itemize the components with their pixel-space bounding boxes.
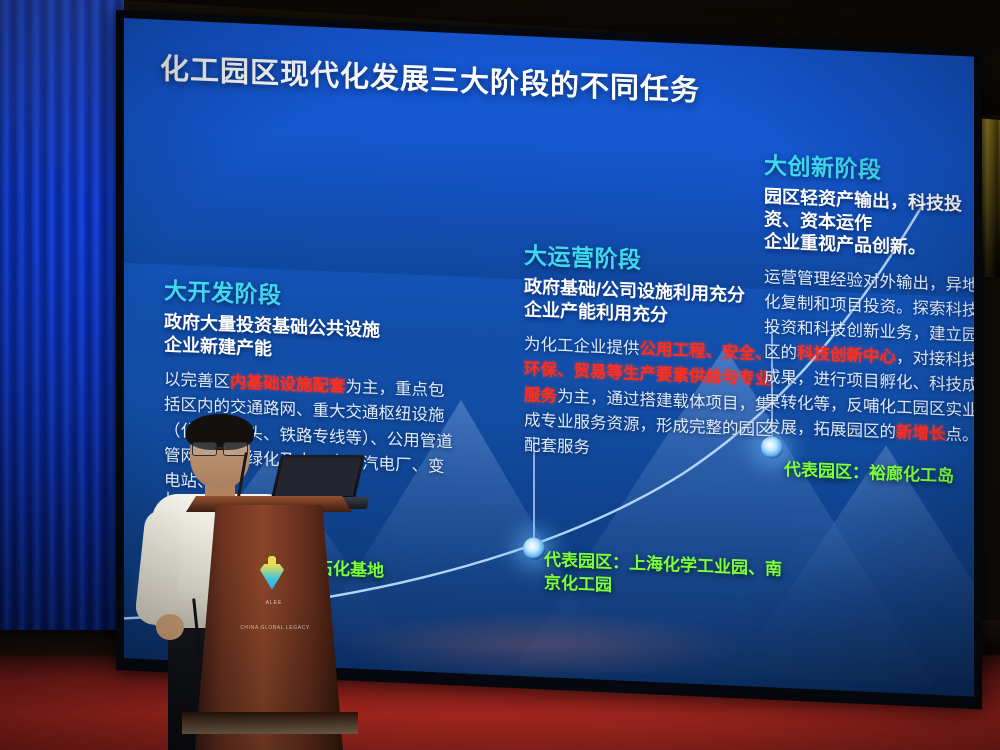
phase-subtitle: 园区轻资产输出，科技投资、资本运作 企业重视产品创新。 (764, 185, 974, 262)
phase-heading: 大运营阶段 (524, 236, 774, 280)
speaker-hand (156, 614, 184, 640)
glasses-icon (192, 442, 248, 454)
podium-logo-line1: ALEE (252, 600, 296, 606)
body-text: 点。 (946, 426, 975, 445)
body-text: 为主，通过搭建载体项目，集成专业服务资源，形成完整的园区配套服务 (524, 387, 772, 457)
phase-heading: 大创新阶段 (764, 146, 974, 189)
phase-block-innovation: 大创新阶段 园区轻资产输出，科技投资、资本运作 企业重视产品创新。 运营管理经验… (764, 146, 974, 449)
phase-body: 运营管理经验对外输出，异地化复制和项目投资。探索科技投资和科技创新业务，建立园区… (764, 265, 974, 449)
podium-base (182, 712, 358, 734)
phase-subtitle: 政府基础/公司设施利用充分 企业产能利用充分 (524, 275, 774, 331)
body-text: 以完善区 (164, 371, 230, 392)
highlight-text: 新增长 (896, 424, 946, 444)
podium-emblem-icon (258, 556, 286, 596)
photo-scene: 化工园区现代化发展三大阶段的不同任务 大开发阶段 政府大量投资基础公共设施 企业… (0, 0, 1000, 750)
phase-body: 为化工企业提供公用工程、安全、环保、贸易等生产要素供给与专业服务为主，通过搭建载… (524, 333, 774, 469)
slide-title: 化工园区现代化发展三大阶段的不同任务 (160, 49, 800, 116)
phase-block-operation: 大运营阶段 政府基础/公司设施利用充分 企业产能利用充分 为化工企业提供公用工程… (524, 236, 774, 468)
body-text: 为化工企业提供 (524, 336, 640, 359)
phase-subtitle: 政府大量投资基础公共设施 企业新建产能 (164, 310, 454, 367)
blue-curtain (0, 0, 124, 690)
highlight-text: 内基础设施配套 (230, 374, 346, 397)
highlight-text: 科技创新中心 (797, 345, 896, 367)
podium-logo-line2: CHINA GLOBAL LEGACY (240, 624, 310, 633)
curve-node-2 (523, 537, 545, 560)
